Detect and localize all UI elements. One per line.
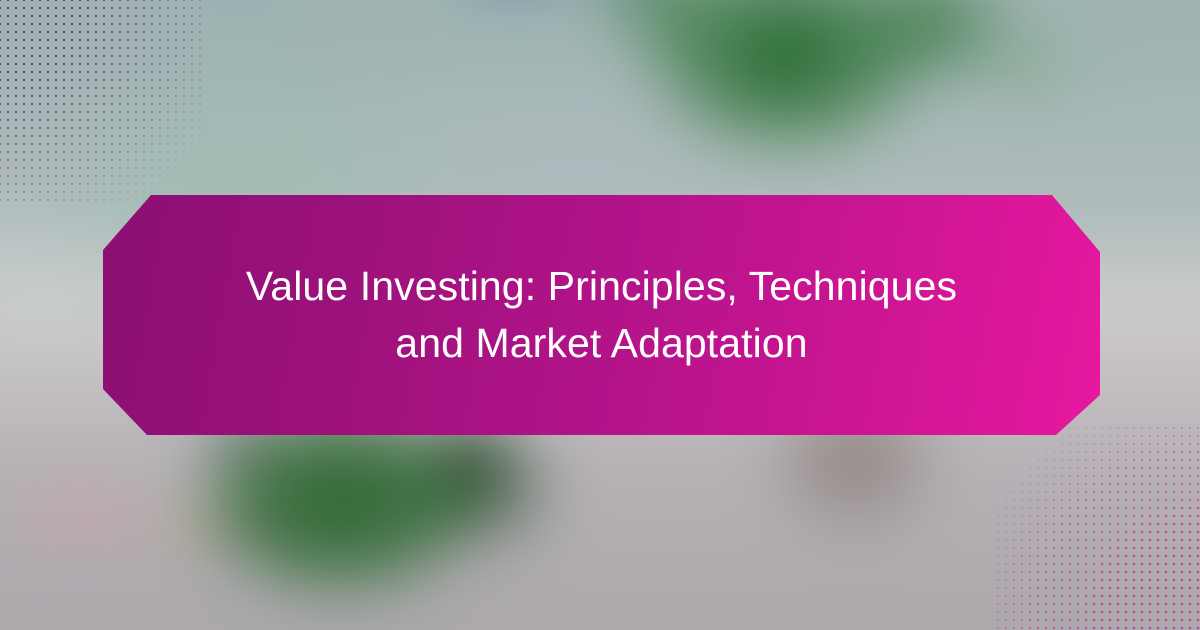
page-title: Value Investing: Principles, Techniques … xyxy=(232,258,972,371)
share-card-canvas: Value Investing: Principles, Techniques … xyxy=(0,0,1200,630)
title-banner: Value Investing: Principles, Techniques … xyxy=(103,195,1100,435)
